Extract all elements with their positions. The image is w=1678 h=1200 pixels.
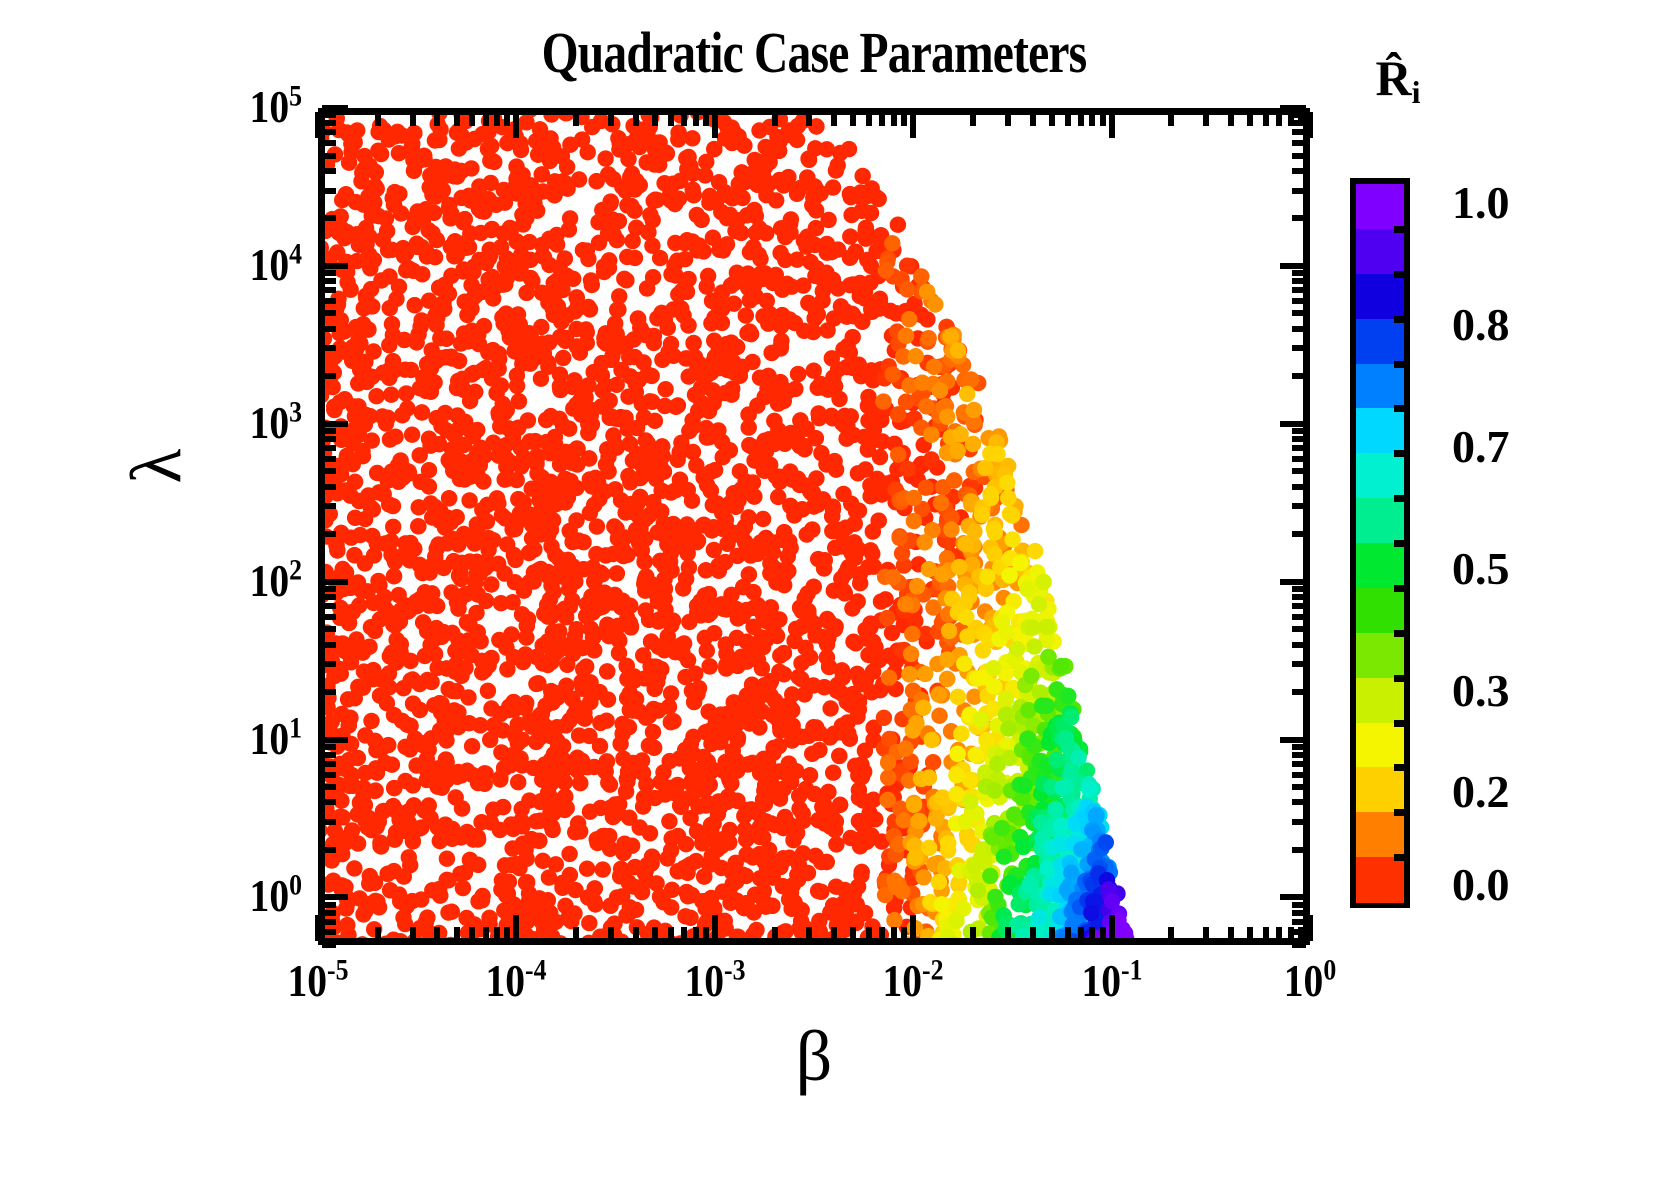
scatter-point <box>939 651 955 667</box>
scatter-point <box>777 229 793 245</box>
scatter-point <box>854 864 870 880</box>
scatter-point <box>391 587 407 603</box>
scatter-point <box>485 802 501 818</box>
scatter-point <box>779 276 795 292</box>
scatter-point <box>899 461 915 477</box>
scatter-point <box>377 535 393 551</box>
scatter-point <box>532 478 548 494</box>
scatter-point <box>632 489 648 505</box>
scatter-point <box>530 147 546 163</box>
scatter-point <box>579 243 595 259</box>
scatter-point <box>696 868 712 884</box>
scatter-point <box>511 393 527 409</box>
scatter-point <box>431 280 447 296</box>
scatter-point <box>1031 596 1047 612</box>
scatter-point <box>665 516 681 532</box>
scatter-point <box>628 522 644 538</box>
scatter-point <box>429 305 445 321</box>
scatter-point <box>371 577 387 593</box>
scatter-point <box>886 873 902 889</box>
scatter-point <box>551 495 567 511</box>
scatter-point <box>800 295 816 311</box>
scatter-point <box>880 769 896 785</box>
scatter-point <box>689 242 705 258</box>
scatter-point <box>901 311 917 327</box>
scatter-point <box>720 769 736 785</box>
scatter-point <box>994 820 1010 836</box>
scatter-point <box>914 375 930 391</box>
scatter-point <box>545 512 561 528</box>
scatter-point <box>741 566 757 582</box>
scatter-point <box>723 277 739 293</box>
scatter-point <box>513 458 529 474</box>
scatter-point <box>497 857 513 873</box>
scatter-point <box>398 385 414 401</box>
scatter-point <box>456 471 472 487</box>
scatter-point <box>1031 909 1047 925</box>
scatter-point <box>559 569 575 585</box>
scatter-point <box>966 402 982 418</box>
scatter-point <box>333 830 349 846</box>
scatter-point <box>693 212 709 228</box>
scatter-point <box>651 157 667 173</box>
scatter-point <box>620 768 636 784</box>
scatter-point <box>795 845 811 861</box>
scatter-point <box>974 507 990 523</box>
scatter-point <box>755 511 771 527</box>
scatter-point <box>606 227 622 243</box>
scatter-point <box>531 833 547 849</box>
scatter-point <box>647 192 663 208</box>
scatter-point <box>649 135 665 151</box>
scatter-point <box>631 703 647 719</box>
scatter-point <box>363 619 379 635</box>
scatter-point <box>382 300 398 316</box>
scatter-point <box>758 530 774 546</box>
scatter-point <box>444 625 460 641</box>
scatter-point <box>913 268 929 284</box>
scatter-point <box>711 242 727 258</box>
scatter-point <box>723 654 739 670</box>
scatter-point <box>325 873 341 889</box>
scatter-point <box>607 481 623 497</box>
scatter-point <box>557 471 573 487</box>
scatter-point <box>797 590 813 606</box>
scatter-point <box>880 754 896 770</box>
scatter-point <box>654 438 670 454</box>
scatter-point <box>411 499 427 515</box>
scatter-point <box>613 338 629 354</box>
scatter-point <box>558 268 574 284</box>
scatter-point <box>685 419 701 435</box>
scatter-point <box>631 139 647 155</box>
scatter-point <box>1023 668 1039 684</box>
scatter-point <box>415 614 431 630</box>
scatter-point <box>898 328 914 344</box>
scatter-point <box>607 436 623 452</box>
scatter-point <box>747 274 763 290</box>
scatter-point <box>549 733 565 749</box>
scatter-point <box>808 220 824 236</box>
scatter-point <box>738 307 754 323</box>
scatter-point <box>438 331 454 347</box>
scatter-point <box>575 661 591 677</box>
scatter-point <box>385 353 401 369</box>
scatter-point <box>641 737 657 753</box>
scatter-point <box>637 865 653 881</box>
scatter-point <box>510 735 526 751</box>
scatter-point <box>924 732 940 748</box>
scatter-point <box>943 328 959 344</box>
scatter-point <box>506 547 522 563</box>
scatter-point <box>692 769 708 785</box>
scatter-point <box>620 151 636 167</box>
scatter-point <box>923 451 939 467</box>
scatter-point <box>934 566 950 582</box>
scatter-point <box>787 381 803 397</box>
scatter-point <box>979 569 995 585</box>
scatter-point <box>447 643 463 659</box>
scatter-point <box>918 398 934 414</box>
scatter-point <box>670 397 686 413</box>
scatter-point <box>948 786 964 802</box>
scatter-point <box>897 596 913 612</box>
scatter-point <box>906 513 922 529</box>
scatter-point <box>656 571 672 587</box>
scatter-point <box>396 332 412 348</box>
scatter-point <box>724 380 740 396</box>
scatter-point <box>503 626 519 642</box>
scatter-point <box>352 795 368 811</box>
scatter-point <box>503 816 519 832</box>
scatter-point <box>619 616 635 632</box>
scatter-point <box>686 694 702 710</box>
scatter-point <box>678 571 694 587</box>
scatter-point <box>1001 567 1017 583</box>
scatter-point <box>470 829 486 845</box>
scatter-point <box>533 371 549 387</box>
scatter-point <box>735 166 751 182</box>
scatter-point <box>513 440 529 456</box>
scatter-point <box>877 591 893 607</box>
scatter-point <box>576 710 592 726</box>
scatter-point <box>382 882 398 898</box>
scatter-point <box>677 742 693 758</box>
scatter-point <box>843 189 859 205</box>
scatter-point <box>740 509 756 525</box>
scatter-point <box>977 460 993 476</box>
scatter-point <box>983 486 999 502</box>
scatter-point <box>707 349 723 365</box>
scatter-point <box>728 487 744 503</box>
scatter-point <box>943 521 959 537</box>
scatter-point <box>935 789 951 805</box>
scatter-point <box>510 491 526 507</box>
scatter-point <box>1019 731 1035 747</box>
scatter-point <box>470 857 486 873</box>
scatter-point <box>797 233 813 249</box>
scatter-point <box>329 542 345 558</box>
scatter-point <box>636 554 652 570</box>
scatter-point <box>932 382 948 398</box>
scatter-point <box>431 132 447 148</box>
scatter-plot-area <box>318 108 1310 945</box>
scatter-point <box>711 563 727 579</box>
scatter-point <box>382 431 398 447</box>
scatter-point <box>678 836 694 852</box>
scatter-point <box>636 409 652 425</box>
scatter-point <box>878 262 894 278</box>
scatter-point <box>1039 619 1055 635</box>
scatter-point <box>822 700 838 716</box>
scatter-point <box>545 624 561 640</box>
scatter-point <box>470 775 486 791</box>
scatter-point <box>885 569 901 585</box>
scatter-point <box>757 389 773 405</box>
scatter-point <box>552 446 568 462</box>
scatter-point <box>642 207 658 223</box>
scatter-point <box>485 532 501 548</box>
scatter-point <box>458 240 474 256</box>
scatter-point <box>784 901 800 917</box>
scatter-point <box>480 141 496 157</box>
scatter-point <box>345 127 361 143</box>
scatter-point <box>411 676 427 692</box>
scatter-point <box>953 726 969 742</box>
scatter-point <box>346 547 362 563</box>
scatter-point <box>921 840 937 856</box>
scatter-point <box>515 654 531 670</box>
scatter-point <box>352 362 368 378</box>
scatter-point <box>885 366 901 382</box>
scatter-point <box>468 287 484 303</box>
scatter-point <box>1038 698 1054 714</box>
scatter-point <box>421 478 437 494</box>
scatter-point <box>553 313 569 329</box>
scatter-point <box>588 173 604 189</box>
scatter-point <box>386 549 402 565</box>
scatter-point <box>701 595 717 611</box>
scatter-point <box>646 499 662 515</box>
scatter-point <box>828 836 844 852</box>
scatter-point <box>586 497 602 513</box>
scatter-point <box>453 668 469 684</box>
scatter-point <box>337 391 353 407</box>
scatter-point <box>586 573 602 589</box>
scatter-point <box>884 235 900 251</box>
scatter-point <box>744 354 760 370</box>
scatter-point <box>904 626 920 642</box>
scatter-point <box>921 330 937 346</box>
scatter-point <box>776 524 792 540</box>
scatter-point <box>372 835 388 851</box>
scatter-point <box>561 846 577 862</box>
scatter-point <box>939 671 955 687</box>
scatter-point <box>652 553 668 569</box>
scatter-point <box>703 483 719 499</box>
scatter-point <box>599 753 615 769</box>
scatter-point <box>926 359 942 375</box>
scatter-point <box>769 628 785 644</box>
scatter-point <box>379 695 395 711</box>
scatter-point <box>678 884 694 900</box>
scatter-point <box>663 336 679 352</box>
scatter-point <box>680 149 696 165</box>
scatter-point <box>439 709 455 725</box>
scatter-point <box>368 181 384 197</box>
scatter-point <box>789 186 805 202</box>
scatter-point <box>654 305 670 321</box>
scatter-point <box>946 472 962 488</box>
scatter-point <box>854 203 870 219</box>
scatter-point <box>739 846 755 862</box>
scatter-point <box>439 851 455 867</box>
scatter-point <box>429 232 445 248</box>
scatter-point <box>796 686 812 702</box>
scatter-point <box>720 187 736 203</box>
scatter-point <box>738 895 754 911</box>
scatter-point <box>357 408 373 424</box>
scatter-point <box>703 822 719 838</box>
figure-root: Quadratic Case Parameters 10510410310210… <box>0 0 1678 1200</box>
scatter-point <box>790 366 806 382</box>
scatter-point <box>406 541 422 557</box>
scatter-point <box>346 860 362 876</box>
scatter-point <box>746 488 762 504</box>
scatter-point <box>823 244 839 260</box>
scatter-point <box>801 650 817 666</box>
scatter-point <box>637 327 653 343</box>
scatter-point <box>906 797 922 813</box>
scatter-point <box>569 289 585 305</box>
scatter-point <box>603 352 619 368</box>
scatter-point <box>845 329 861 345</box>
scatter-point <box>948 913 964 929</box>
scatter-point <box>622 474 638 490</box>
scatter-point <box>575 640 591 656</box>
scatter-point <box>898 394 914 410</box>
scatter-point <box>804 521 820 537</box>
scatter-point <box>664 830 680 846</box>
scatter-point <box>437 817 453 833</box>
scatter-point <box>792 412 808 428</box>
scatter-point <box>724 135 740 151</box>
scatter-point <box>708 388 724 404</box>
scatter-point <box>318 330 332 346</box>
scatter-point <box>732 463 748 479</box>
scatter-point <box>941 623 957 639</box>
scatter-point <box>700 268 716 284</box>
scatter-point <box>772 133 788 149</box>
scatter-point <box>657 381 673 397</box>
scatter-point <box>917 666 933 682</box>
scatter-point <box>622 436 638 452</box>
scatter-point <box>635 354 651 370</box>
scatter-point <box>356 663 372 679</box>
scatter-point <box>457 587 473 603</box>
scatter-points-svg <box>318 108 1310 945</box>
scatter-point <box>449 769 465 785</box>
scatter-point <box>535 248 551 264</box>
scatter-point <box>627 250 643 266</box>
scatter-point <box>970 882 986 898</box>
scatter-point <box>405 777 421 793</box>
scatter-point <box>775 850 791 866</box>
scatter-point <box>1026 638 1042 654</box>
scatter-point <box>426 179 442 195</box>
scatter-point <box>1019 581 1035 597</box>
scatter-point <box>571 727 587 743</box>
scatter-point <box>419 772 435 788</box>
scatter-point <box>529 719 545 735</box>
scatter-point <box>713 204 729 220</box>
scatter-point <box>794 501 810 517</box>
scatter-point <box>672 797 688 813</box>
scatter-point <box>501 420 517 436</box>
scatter-point <box>755 308 771 324</box>
scatter-point <box>686 187 702 203</box>
scatter-point <box>552 329 568 345</box>
scatter-point <box>691 680 707 696</box>
scatter-point <box>749 546 765 562</box>
scatter-point <box>442 210 458 226</box>
scatter-point <box>825 765 841 781</box>
scatter-point <box>345 604 361 620</box>
scatter-point <box>355 680 371 696</box>
scatter-point <box>622 598 638 614</box>
scatter-point <box>389 651 405 667</box>
scatter-point <box>771 738 787 754</box>
scatter-point <box>518 285 534 301</box>
scatter-point <box>813 854 829 870</box>
scatter-point <box>367 733 383 749</box>
scatter-point <box>514 606 530 622</box>
scatter-point <box>462 454 478 470</box>
scatter-point <box>496 565 512 581</box>
scatter-point <box>385 519 401 535</box>
scatter-point <box>816 679 832 695</box>
scatter-point <box>881 670 897 686</box>
scatter-point <box>795 806 811 822</box>
scatter-point <box>529 675 545 691</box>
scatter-point <box>949 746 965 762</box>
scatter-point <box>656 591 672 607</box>
scatter-point <box>752 829 768 845</box>
scatter-point <box>790 669 806 685</box>
scatter-point <box>480 683 496 699</box>
scatter-point <box>842 228 858 244</box>
scatter-point <box>741 437 757 453</box>
scatter-point <box>760 368 776 384</box>
scatter-point <box>381 467 397 483</box>
scatter-point <box>423 730 439 746</box>
scatter-point <box>765 559 781 575</box>
scatter-point <box>483 222 499 238</box>
scatter-point <box>915 700 931 716</box>
scatter-point <box>345 435 361 451</box>
scatter-point <box>701 704 717 720</box>
scatter-point <box>822 904 838 920</box>
scatter-point <box>702 188 718 204</box>
scatter-point <box>917 534 933 550</box>
scatter-point <box>968 747 984 763</box>
scatter-point <box>1054 780 1070 796</box>
scatter-point <box>865 634 881 650</box>
scatter-point <box>842 344 858 360</box>
scatter-point <box>827 822 843 838</box>
scatter-point <box>580 425 596 441</box>
scatter-point <box>496 182 512 198</box>
